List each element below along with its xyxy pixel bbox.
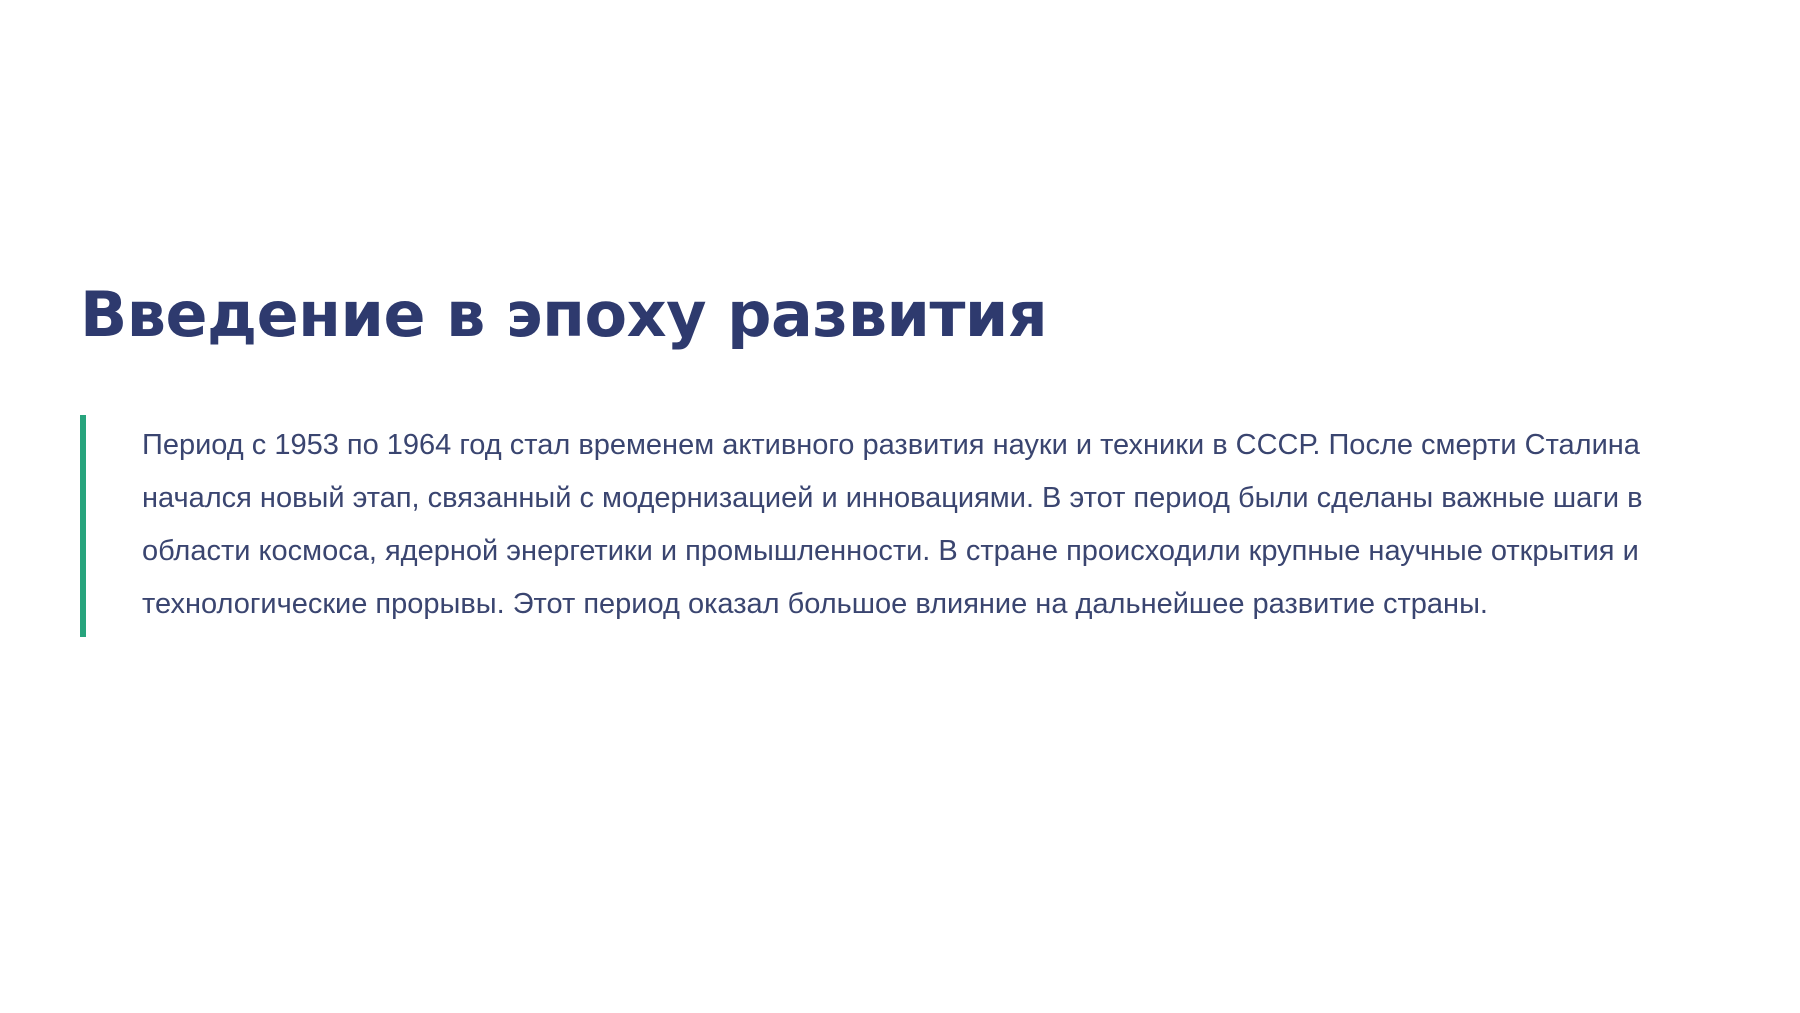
- body-text-container: Период с 1953 по 1964 год стал временем …: [86, 415, 1720, 637]
- body-block: Период с 1953 по 1964 год стал временем …: [80, 415, 1720, 637]
- body-paragraph: Период с 1953 по 1964 год стал временем …: [142, 419, 1720, 631]
- page-title: Введение в эпоху развития: [80, 280, 1720, 349]
- slide-canvas: Введение в эпоху развития Период с 1953 …: [0, 0, 1800, 1013]
- slide-content: Введение в эпоху развития Период с 1953 …: [80, 280, 1720, 637]
